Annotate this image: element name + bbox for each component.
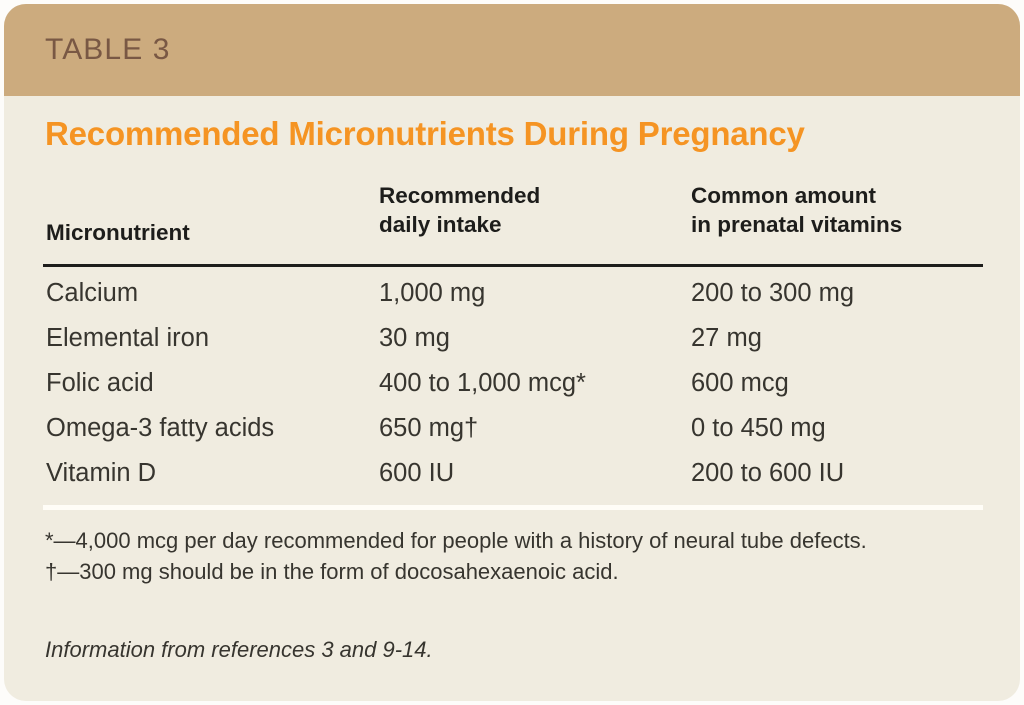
- cell-recommended-daily-intake: 400 to 1,000 mcg*: [379, 369, 586, 398]
- footnote-dagger: †—300 mg should be in the form of docosa…: [45, 556, 985, 587]
- header-divider: [43, 264, 983, 267]
- cell-micronutrient: Elemental iron: [46, 324, 209, 353]
- table-card: TABLE 3 Recommended Micronutrients Durin…: [4, 4, 1020, 701]
- cell-common-amount: 200 to 300 mg: [691, 279, 854, 308]
- cell-recommended-daily-intake: 600 IU: [379, 459, 454, 488]
- table-row: Calcium 1,000 mg 200 to 300 mg: [4, 279, 1020, 324]
- table-row: Vitamin D 600 IU 200 to 600 IU: [4, 459, 1020, 504]
- footnote-source: Information from references 3 and 9-14.: [45, 637, 433, 663]
- column-header-common-amount-in-prenatal-vitamins: Common amount in prenatal vitamins: [691, 181, 902, 239]
- cell-common-amount: 200 to 600 IU: [691, 459, 844, 488]
- column-header-micronutrient: Micronutrient: [46, 218, 190, 247]
- cell-micronutrient: Omega-3 fatty acids: [46, 414, 274, 443]
- table-body: Calcium 1,000 mg 200 to 300 mg Elemental…: [4, 279, 1020, 504]
- table-row: Folic acid 400 to 1,000 mcg* 600 mcg: [4, 369, 1020, 414]
- cell-recommended-daily-intake: 1,000 mg: [379, 279, 485, 308]
- cell-common-amount: 0 to 450 mg: [691, 414, 826, 443]
- footnotes: *—4,000 mcg per day recommended for peop…: [45, 525, 985, 587]
- footnote-asterisk: *—4,000 mcg per day recommended for peop…: [45, 525, 985, 556]
- table-label-bar: TABLE 3: [4, 4, 1020, 96]
- cell-common-amount: 600 mcg: [691, 369, 789, 398]
- footnote-divider: [43, 505, 983, 510]
- cell-micronutrient: Vitamin D: [46, 459, 156, 488]
- table-row: Omega-3 fatty acids 650 mg† 0 to 450 mg: [4, 414, 1020, 459]
- cell-recommended-daily-intake: 650 mg†: [379, 414, 478, 443]
- cell-common-amount: 27 mg: [691, 324, 762, 353]
- table-row: Elemental iron 30 mg 27 mg: [4, 324, 1020, 369]
- table-number-label: TABLE 3: [45, 33, 171, 67]
- cell-micronutrient: Folic acid: [46, 369, 154, 398]
- cell-micronutrient: Calcium: [46, 279, 138, 308]
- column-header-recommended-daily-intake: Recommended daily intake: [379, 181, 540, 239]
- cell-recommended-daily-intake: 30 mg: [379, 324, 450, 353]
- table-title: Recommended Micronutrients During Pregna…: [45, 115, 805, 153]
